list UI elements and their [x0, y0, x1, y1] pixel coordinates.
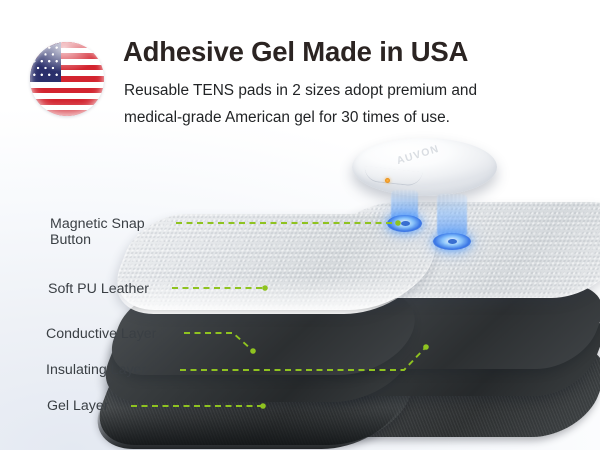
device-brand-logo: AUVON	[395, 143, 441, 167]
pu-layer-edge-highlight	[103, 218, 446, 314]
subtitle-line-1: Reusable TENS pads in 2 sizes adopt prem…	[124, 82, 477, 100]
header-section: Adhesive Gel Made in USA Reusable TENS p…	[0, 0, 600, 140]
device-seam-line	[363, 166, 422, 187]
usa-flag-circle-icon	[30, 42, 104, 116]
callout-label-magnetic-snap-button: Magnetic Snap Button	[50, 216, 145, 248]
callout-label-line-1: Magnetic Snap	[50, 216, 145, 232]
device-led-indicator	[385, 178, 390, 183]
subtitle-line-2: medical-grade American gel for 30 times …	[124, 109, 450, 127]
magnetic-snap-connector-right	[437, 194, 467, 242]
soft-pu-leather-shape	[122, 202, 600, 322]
callout-label-conductive-layer: Conductive Layer	[46, 326, 156, 342]
magnetic-snap-connector-left	[391, 190, 418, 224]
page-title: Adhesive Gel Made in USA	[123, 36, 468, 68]
device-body: AUVON	[352, 138, 497, 196]
callout-label-insulating-layer: Insulating Layer	[46, 362, 146, 378]
callout-label-soft-pu-leather: Soft PU Leather	[48, 281, 149, 297]
callout-label-gel-layer: Gel Layer	[47, 398, 109, 414]
flag-edge-highlight	[30, 42, 104, 116]
snap-center-dot	[448, 239, 457, 244]
callout-label-line-2: Button	[50, 232, 145, 248]
infographic-canvas: Adhesive Gel Made in USA Reusable TENS p…	[0, 0, 600, 450]
tens-unit-module: AUVON	[352, 138, 497, 204]
snap-center-dot	[401, 221, 410, 226]
